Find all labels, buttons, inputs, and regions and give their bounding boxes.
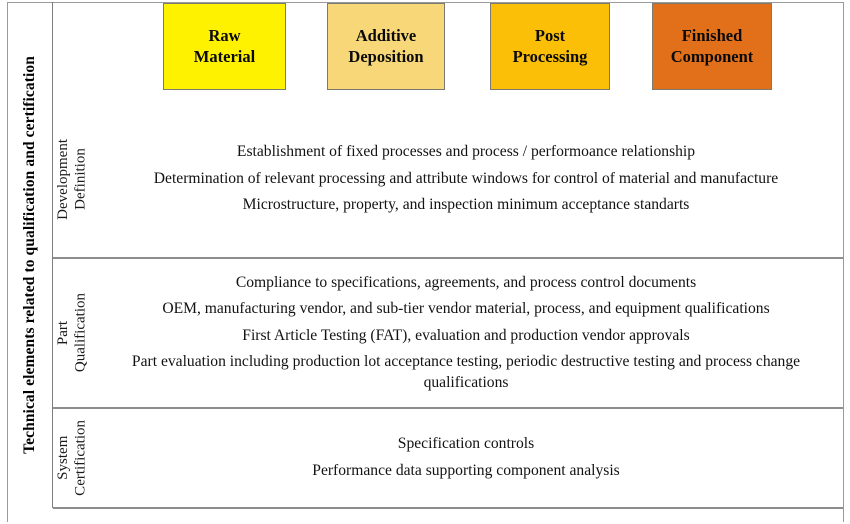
- process-box-raw-material: RawMaterial: [163, 3, 286, 90]
- row-divider: [53, 507, 843, 509]
- process-box-additive-deposition: AdditiveDeposition: [327, 3, 445, 90]
- row-divider: [53, 257, 843, 259]
- process-box-finished-component: FinishedComponent: [652, 3, 772, 90]
- frame-right-border: [843, 2, 844, 522]
- process-box-label: AdditiveDeposition: [344, 26, 427, 66]
- row-line: First Article Testing (FAT), evaluation …: [93, 326, 839, 347]
- vertical-axis-title: Technical elements related to qualificat…: [8, 2, 52, 508]
- row-line: Determination of relevant processing and…: [93, 169, 839, 190]
- row-line: OEM, manufacturing vendor, and sub-tier …: [93, 299, 839, 320]
- process-box-label: PostProcessing: [509, 26, 592, 66]
- row-label-text: Development Definition: [55, 139, 90, 220]
- row-label-text: Part Qualification: [55, 293, 90, 372]
- row-content-part-qualification: Compliance to specifications, agreements…: [93, 273, 843, 394]
- row-development-definition: Development Definition Establishment of …: [53, 100, 843, 258]
- row-line: Establishment of fixed processes and pro…: [93, 142, 839, 163]
- row-line: Microstructure, property, and inspection…: [93, 195, 839, 216]
- vertical-axis-title-text: Technical elements related to qualificat…: [21, 56, 39, 454]
- row-content-system-certification: Specification controls Performance data …: [93, 434, 843, 481]
- row-line: Performance data supporting component an…: [93, 461, 839, 482]
- row-label-development-definition: Development Definition: [53, 100, 93, 258]
- row-line: Specification controls: [93, 434, 839, 455]
- row-part-qualification: Part Qualification Compliance to specifi…: [53, 258, 843, 408]
- row-stack: Development Definition Establishment of …: [53, 100, 843, 508]
- process-box-post-processing: PostProcessing: [490, 3, 610, 90]
- row-label-system-certification: System Certification: [53, 408, 93, 508]
- row-label-part-qualification: Part Qualification: [53, 258, 93, 408]
- row-label-text: System Certification: [55, 420, 90, 496]
- row-line: Compliance to specifications, agreements…: [93, 273, 839, 294]
- row-content-development-definition: Establishment of fixed processes and pro…: [93, 142, 843, 216]
- process-box-label: FinishedComponent: [667, 26, 758, 66]
- process-box-label: RawMaterial: [190, 26, 259, 66]
- qualification-certification-diagram: Technical elements related to qualificat…: [0, 0, 850, 524]
- row-divider: [53, 407, 843, 409]
- row-line: Part evaluation including production lot…: [93, 352, 839, 393]
- row-system-certification: System Certification Specification contr…: [53, 408, 843, 508]
